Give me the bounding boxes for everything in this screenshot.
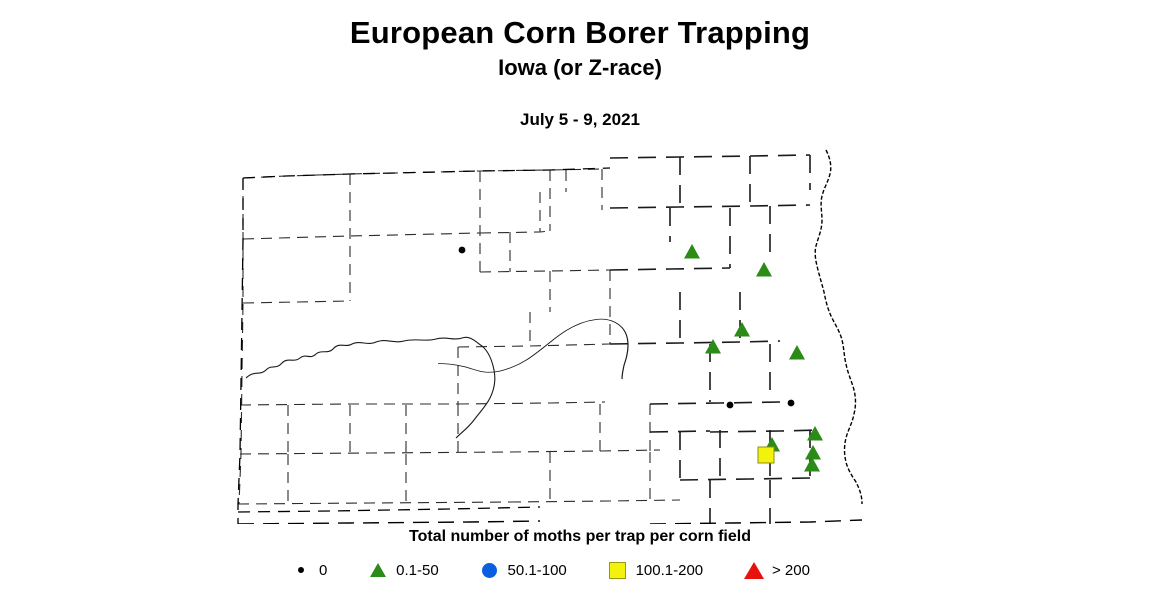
state-outline-west — [238, 168, 610, 524]
legend-item-high: 100.1-200 — [607, 556, 704, 584]
legend-label-very-high: > 200 — [772, 562, 810, 579]
river-boundary-south — [438, 319, 628, 379]
map-marker-triangle — [805, 445, 821, 460]
map-figure-page: European Corn Borer Trapping Iowa (or Z-… — [0, 0, 1160, 606]
legend-label-high: 100.1-200 — [636, 562, 704, 579]
blue-circle-icon — [479, 559, 501, 581]
map-marker-triangle — [789, 345, 805, 360]
small-black-dot-icon — [290, 559, 312, 581]
state-map — [210, 132, 870, 524]
legend: 0 0.1-50 50.1-100 100.1-200 > 200 — [290, 556, 810, 584]
map-marker-triangle — [734, 322, 750, 337]
legend-label-medium: 50.1-100 — [508, 562, 567, 579]
title-block: European Corn Borer Trapping Iowa (or Z-… — [0, 16, 1160, 82]
yellow-square-icon — [607, 559, 629, 581]
map-marker-triangle — [705, 339, 721, 354]
county-boundaries — [238, 169, 680, 504]
page-title: European Corn Borer Trapping — [0, 16, 1160, 51]
legend-label-low: 0.1-50 — [396, 562, 439, 579]
legend-item-zero: 0 — [290, 556, 327, 584]
map-marker-dot — [727, 402, 734, 409]
east-county-boundaries — [610, 155, 820, 524]
red-triangle-icon — [743, 559, 765, 581]
green-triangle-icon — [367, 559, 389, 581]
state-outline-south — [238, 520, 862, 524]
legend-item-very-high: > 200 — [743, 556, 810, 584]
date-range-label: July 5 - 9, 2021 — [0, 110, 1160, 130]
legend-title: Total number of moths per trap per corn … — [0, 528, 1160, 546]
map-marker-triangle — [756, 262, 772, 277]
map-marker-dot — [788, 400, 795, 407]
legend-item-medium: 50.1-100 — [479, 556, 567, 584]
map-canvas — [210, 132, 870, 524]
map-marker-dot — [459, 247, 466, 254]
map-marker-triangle — [684, 244, 700, 259]
page-subtitle: Iowa (or Z-race) — [0, 54, 1160, 83]
legend-item-low: 0.1-50 — [367, 556, 439, 584]
trap-markers-layer — [459, 244, 823, 472]
legend-label-zero: 0 — [319, 562, 327, 579]
mississippi-river-border — [815, 150, 862, 504]
map-marker-square — [758, 447, 774, 463]
